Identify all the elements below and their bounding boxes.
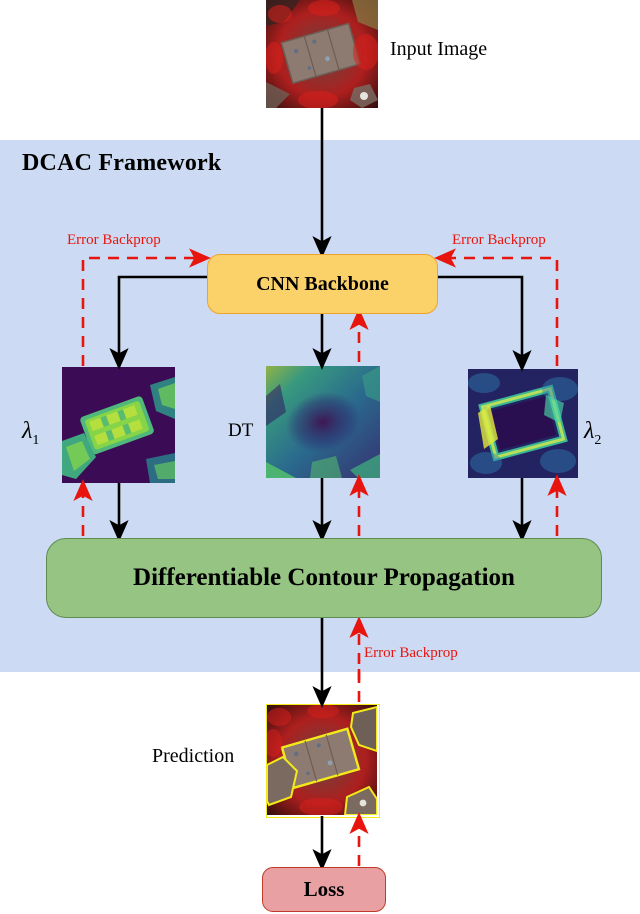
lambda2-symbol: λ	[584, 418, 594, 444]
differentiable-contour-propagation-box[interactable]: Differentiable Contour Propagation	[46, 538, 602, 618]
lambda2-label: λ2	[584, 418, 601, 449]
cnn-backbone-box[interactable]: CNN Backbone	[207, 254, 438, 314]
input-image-label: Input Image	[390, 38, 487, 61]
error-backprop-label-right: Error Backprop	[452, 232, 546, 249]
error-backprop-label-bottom: Error Backprop	[364, 645, 458, 662]
loss-box[interactable]: Loss	[262, 867, 386, 912]
error-backprop-label-left: Error Backprop	[67, 232, 161, 249]
lambda2-subscript: 2	[594, 433, 601, 448]
figure-canvas: DCAC Framework	[0, 0, 640, 914]
dt-label: DT	[228, 420, 253, 442]
connector-layer	[0, 0, 640, 914]
prediction-label: Prediction	[152, 745, 234, 768]
lambda1-subscript: 1	[32, 433, 39, 448]
lambda1-label: λ1	[22, 418, 39, 449]
lambda1-symbol: λ	[22, 418, 32, 444]
